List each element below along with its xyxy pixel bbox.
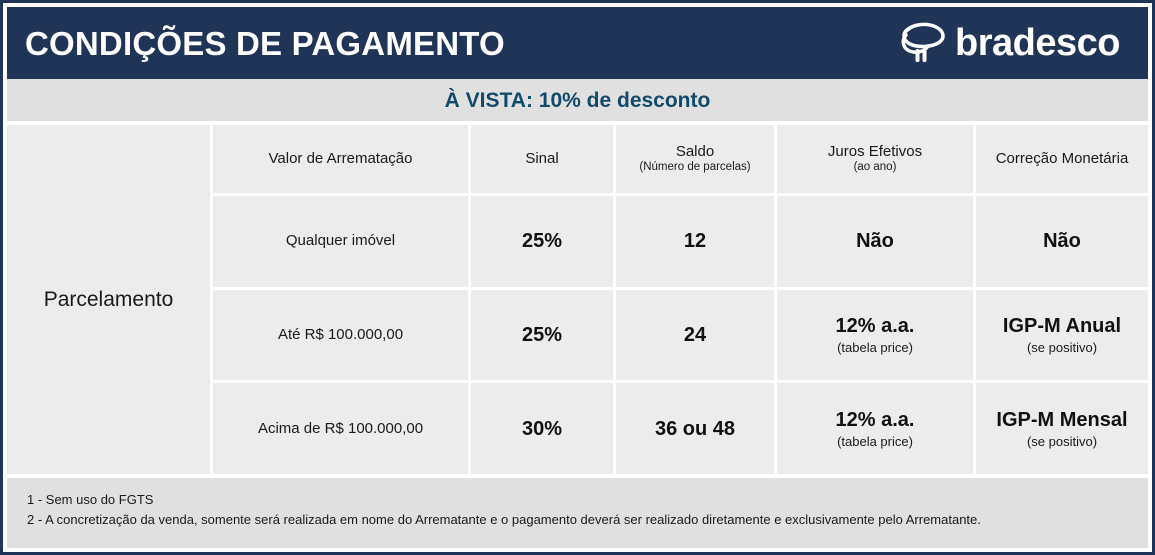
cell-sinal-text: 25% — [522, 229, 562, 253]
row-group-label-text: Parcelamento — [44, 289, 174, 310]
column-header-valor-main: Valor de Arrematação — [269, 150, 413, 167]
cell-saldo-text: 12 — [684, 229, 706, 253]
column-header-correcao: Correção Monetária — [976, 125, 1148, 193]
bradesco-tree-logo-icon — [896, 20, 948, 66]
cell-saldo: 24 — [616, 290, 774, 381]
cell-juros: 12% a.a. (tabela price) — [777, 290, 973, 381]
cell-valor-text: Qualquer imóvel — [286, 232, 395, 250]
cell-sinal-text: 30% — [522, 417, 562, 441]
cell-sinal-text: 25% — [522, 323, 562, 347]
cell-valor: Acima de R$ 100.000,00 — [213, 383, 468, 474]
cell-correcao-text: Não — [1043, 229, 1081, 253]
column-header-juros: Juros Efetivos (ao ano) — [777, 125, 973, 193]
table-row: Acima de R$ 100.000,00 30% 36 ou 48 12% … — [213, 383, 1148, 474]
cell-correcao-note: (se positivo) — [1027, 434, 1097, 450]
discount-text: À VISTA: 10% de desconto — [445, 90, 711, 111]
discount-tail: de desconto — [581, 89, 711, 112]
column-header-saldo-sub: (Número de parcelas) — [639, 161, 750, 175]
cell-juros-note: (tabela price) — [837, 434, 913, 450]
cell-correcao: Não — [976, 196, 1148, 287]
cell-correcao-text: IGP-M Mensal — [996, 408, 1127, 432]
column-header-juros-sub: (ao ano) — [854, 161, 897, 175]
cell-juros-text: 12% a.a. — [836, 314, 915, 338]
footnote-item: 1 - Sem uso do FGTS — [27, 490, 1130, 510]
column-header-valor: Valor de Arrematação — [213, 125, 468, 193]
table-row: Até R$ 100.000,00 25% 24 12% a.a. (tabel… — [213, 290, 1148, 381]
cell-sinal: 25% — [471, 290, 613, 381]
cell-juros: 12% a.a. (tabela price) — [777, 383, 973, 474]
payment-conditions-card: CONDIÇÕES DE PAGAMENTO bradesco À VISTA:… — [0, 0, 1155, 555]
brand-logo: bradesco — [896, 20, 1126, 66]
cell-correcao: IGP-M Mensal (se positivo) — [976, 383, 1148, 474]
card-inner-frame: CONDIÇÕES DE PAGAMENTO bradesco À VISTA:… — [3, 3, 1152, 552]
cell-valor: Qualquer imóvel — [213, 196, 468, 287]
column-header-saldo: Saldo (Número de parcelas) — [616, 125, 774, 193]
table-row: Qualquer imóvel 25% 12 Não Não — [213, 196, 1148, 287]
cell-correcao-text: IGP-M Anual — [1003, 314, 1121, 338]
column-header-juros-main: Juros Efetivos — [828, 143, 922, 160]
cell-juros-text: Não — [856, 229, 894, 253]
cell-valor-text: Até R$ 100.000,00 — [278, 326, 403, 344]
cell-saldo-text: 36 ou 48 — [655, 417, 735, 441]
table-row-group-label: Parcelamento — [7, 125, 210, 474]
footnotes-section: 1 - Sem uso do FGTS 2 - A concretização … — [7, 474, 1148, 548]
discount-lead: À VISTA: 10% — [445, 89, 581, 112]
brand-wordmark: bradesco — [955, 24, 1120, 62]
table-header-row: Valor de Arrematação Sinal Saldo (Número… — [213, 125, 1148, 193]
cell-saldo-text: 24 — [684, 323, 706, 347]
cell-valor: Até R$ 100.000,00 — [213, 290, 468, 381]
column-header-correcao-main: Correção Monetária — [996, 150, 1129, 167]
cell-correcao-note: (se positivo) — [1027, 340, 1097, 356]
card-header: CONDIÇÕES DE PAGAMENTO bradesco — [7, 7, 1148, 79]
table-grid: Valor de Arrematação Sinal Saldo (Número… — [213, 125, 1148, 474]
discount-banner: À VISTA: 10% de desconto — [7, 79, 1148, 125]
footnote-item: 2 - A concretização da venda, somente se… — [27, 510, 1130, 530]
cell-sinal: 25% — [471, 196, 613, 287]
cell-juros-text: 12% a.a. — [836, 408, 915, 432]
cell-sinal: 30% — [471, 383, 613, 474]
cell-juros: Não — [777, 196, 973, 287]
column-header-sinal-main: Sinal — [525, 150, 558, 167]
cell-juros-note: (tabela price) — [837, 340, 913, 356]
conditions-table: Parcelamento Valor de Arrematação Sinal … — [7, 125, 1148, 474]
cell-correcao: IGP-M Anual (se positivo) — [976, 290, 1148, 381]
column-header-saldo-main: Saldo — [676, 143, 714, 160]
column-header-sinal: Sinal — [471, 125, 613, 193]
page-title: CONDIÇÕES DE PAGAMENTO — [25, 27, 505, 60]
cell-saldo: 36 ou 48 — [616, 383, 774, 474]
cell-saldo: 12 — [616, 196, 774, 287]
cell-valor-text: Acima de R$ 100.000,00 — [258, 420, 423, 438]
